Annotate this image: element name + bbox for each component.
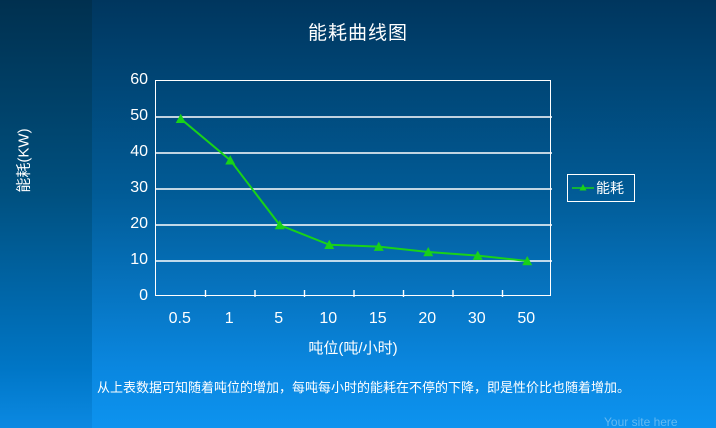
y-axis-tick-label: 20 — [106, 216, 148, 232]
x-axis-tick-label: 15 — [353, 310, 403, 330]
y-axis-tick-label: 30 — [106, 180, 148, 196]
y-axis-tick-label: 0 — [106, 288, 148, 304]
page-title: 能耗曲线图 — [0, 18, 716, 45]
x-axis-ticks — [206, 290, 503, 297]
x-axis-tick-label: 30 — [452, 310, 502, 330]
x-axis-tick-label: 20 — [403, 310, 453, 330]
y-axis-tick-label: 40 — [106, 144, 148, 160]
x-axis-tick-label: 50 — [502, 310, 552, 330]
y-axis-title: 能耗(KW) — [13, 95, 34, 227]
y-axis-tick-label: 50 — [106, 108, 148, 124]
slide-canvas: 能耗曲线图 6050403020100 能耗(KW) 0.51510152030… — [0, 0, 716, 428]
chart-svg — [156, 81, 552, 297]
x-axis-tick-labels: 0.5151015203050 — [155, 310, 551, 330]
x-axis-title: 吨位(吨/小时) — [155, 337, 551, 358]
gridlines — [156, 117, 552, 261]
x-axis-tick-label: 5 — [254, 310, 304, 330]
y-axis-tick-label: 60 — [106, 72, 148, 88]
legend-series-marker-icon — [572, 182, 594, 194]
series-line-energy — [181, 119, 528, 261]
chart-legend: 能耗 — [567, 174, 635, 202]
x-axis-tick-label: 10 — [304, 310, 354, 330]
x-axis-tick-label: 0.5 — [155, 310, 205, 330]
legend-label: 能耗 — [596, 181, 624, 195]
y-axis-tick-labels: 6050403020100 — [106, 72, 148, 304]
plot-area — [155, 80, 551, 296]
y-axis-tick-label: 10 — [106, 252, 148, 268]
x-axis-tick-label: 1 — [205, 310, 255, 330]
watermark-text: Your site here — [604, 416, 678, 428]
slide-caption: 从上表数据可知随着吨位的增加，每吨每小时的能耗在不停的下降，即是性价比也随着增加… — [97, 378, 667, 397]
data-point-marker — [176, 114, 186, 123]
